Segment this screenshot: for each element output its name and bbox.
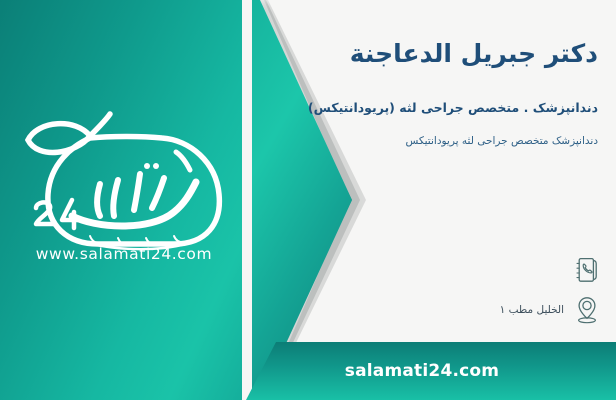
contact-row-address[interactable]: الخليل مطب ١	[352, 290, 602, 330]
business-card: www.salamati24.com دكتر جبريل الدعاجنة د…	[0, 0, 616, 400]
doctor-specialty-secondary: دندانپزشک متخصص جراحی لثه پریودانتیکس	[352, 134, 598, 150]
phone-book-icon	[572, 253, 602, 287]
location-pin-icon	[572, 293, 602, 327]
doctor-name: دكتر جبريل الدعاجنة	[352, 38, 598, 69]
salamati24-logo	[14, 108, 246, 268]
doctor-specialty-primary: دندانپزشک . متخصص جراحی لثه (پریودانتیکس…	[352, 99, 598, 117]
clinic-address: الخليل مطب ١	[352, 304, 564, 316]
logo-website-url: www.salamati24.com	[14, 245, 234, 263]
chevron-accent	[252, 0, 356, 400]
contact-row-phone[interactable]	[352, 250, 602, 290]
footer-website[interactable]: salamati24.com	[246, 342, 616, 400]
footer-bar: salamati24.com	[246, 342, 616, 400]
phone-number	[352, 270, 564, 271]
contact-block: الخليل مطب ١	[352, 250, 602, 330]
